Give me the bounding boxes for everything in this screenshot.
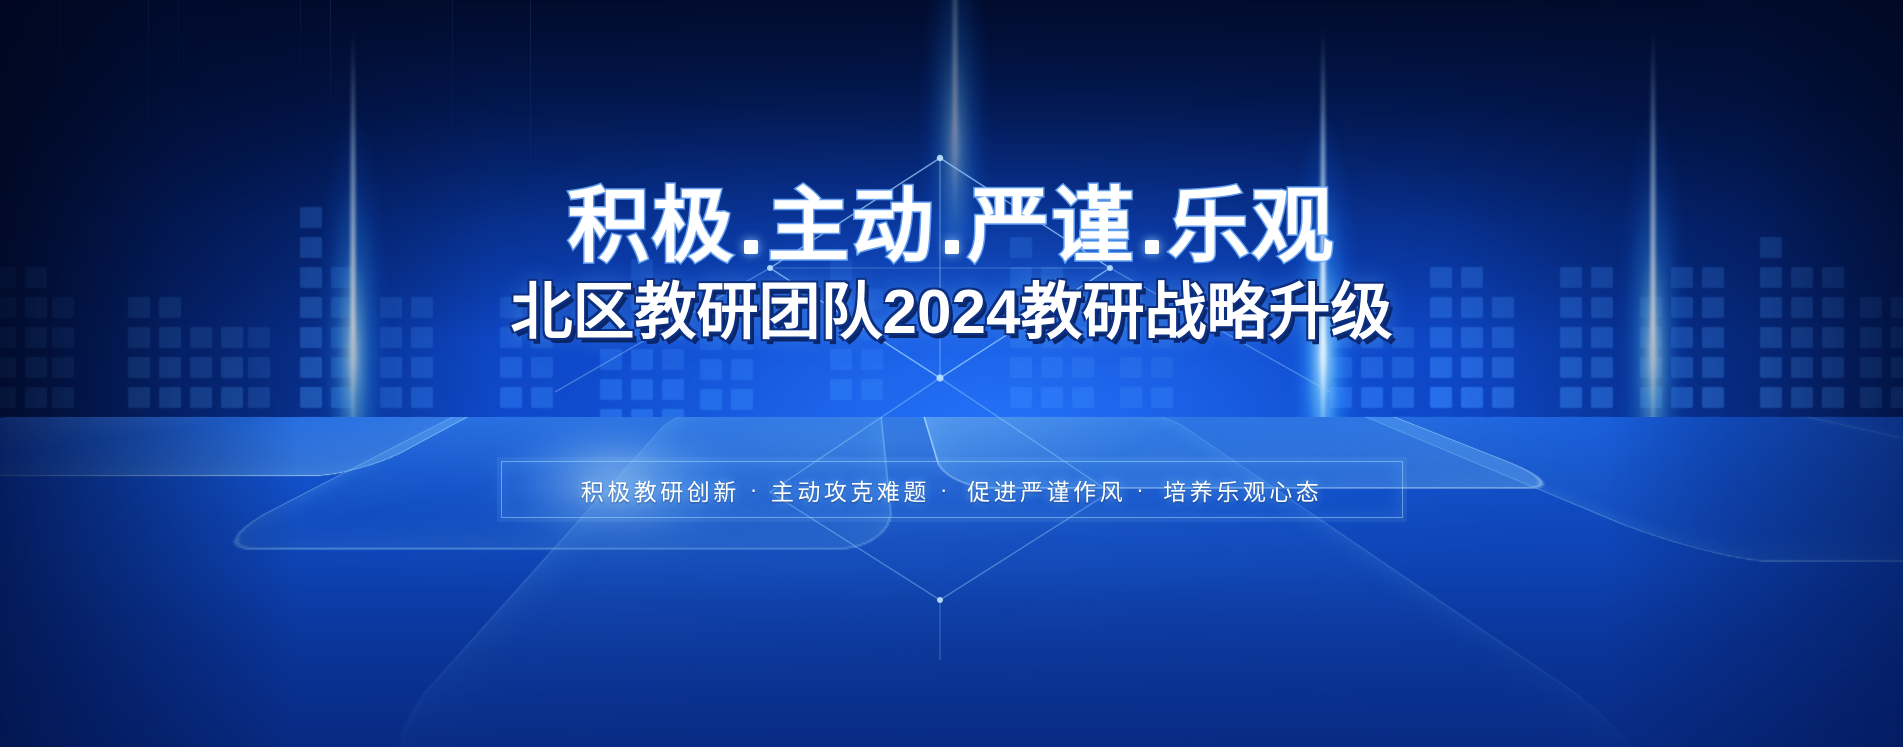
tagline-separator: ·	[1136, 476, 1147, 503]
tagline-separator: ·	[940, 476, 951, 503]
tagline: 积极教研创新 · 主动攻克难题 · 促进严谨作风 · 培养乐观心态	[581, 473, 1323, 507]
tagline-item-3: 促进严谨作风	[967, 473, 1126, 507]
tagline-item-1: 积极教研创新	[581, 473, 740, 507]
tagline-separator: ·	[750, 476, 761, 503]
tagline-item-2: 主动攻克难题	[771, 473, 930, 507]
tagline-frame: 积极教研创新 · 主动攻克难题 · 促进严谨作风 · 培养乐观心态	[501, 461, 1403, 518]
tagline-item-4: 培养乐观心态	[1163, 473, 1322, 507]
floor-right-shadow	[1603, 417, 1903, 747]
floor-left-shadow	[0, 417, 300, 747]
hero-banner: 积极 主动 严谨 乐观 北区教研团队2024教研战略升级 积极教研创新 · 主动…	[0, 0, 1903, 747]
